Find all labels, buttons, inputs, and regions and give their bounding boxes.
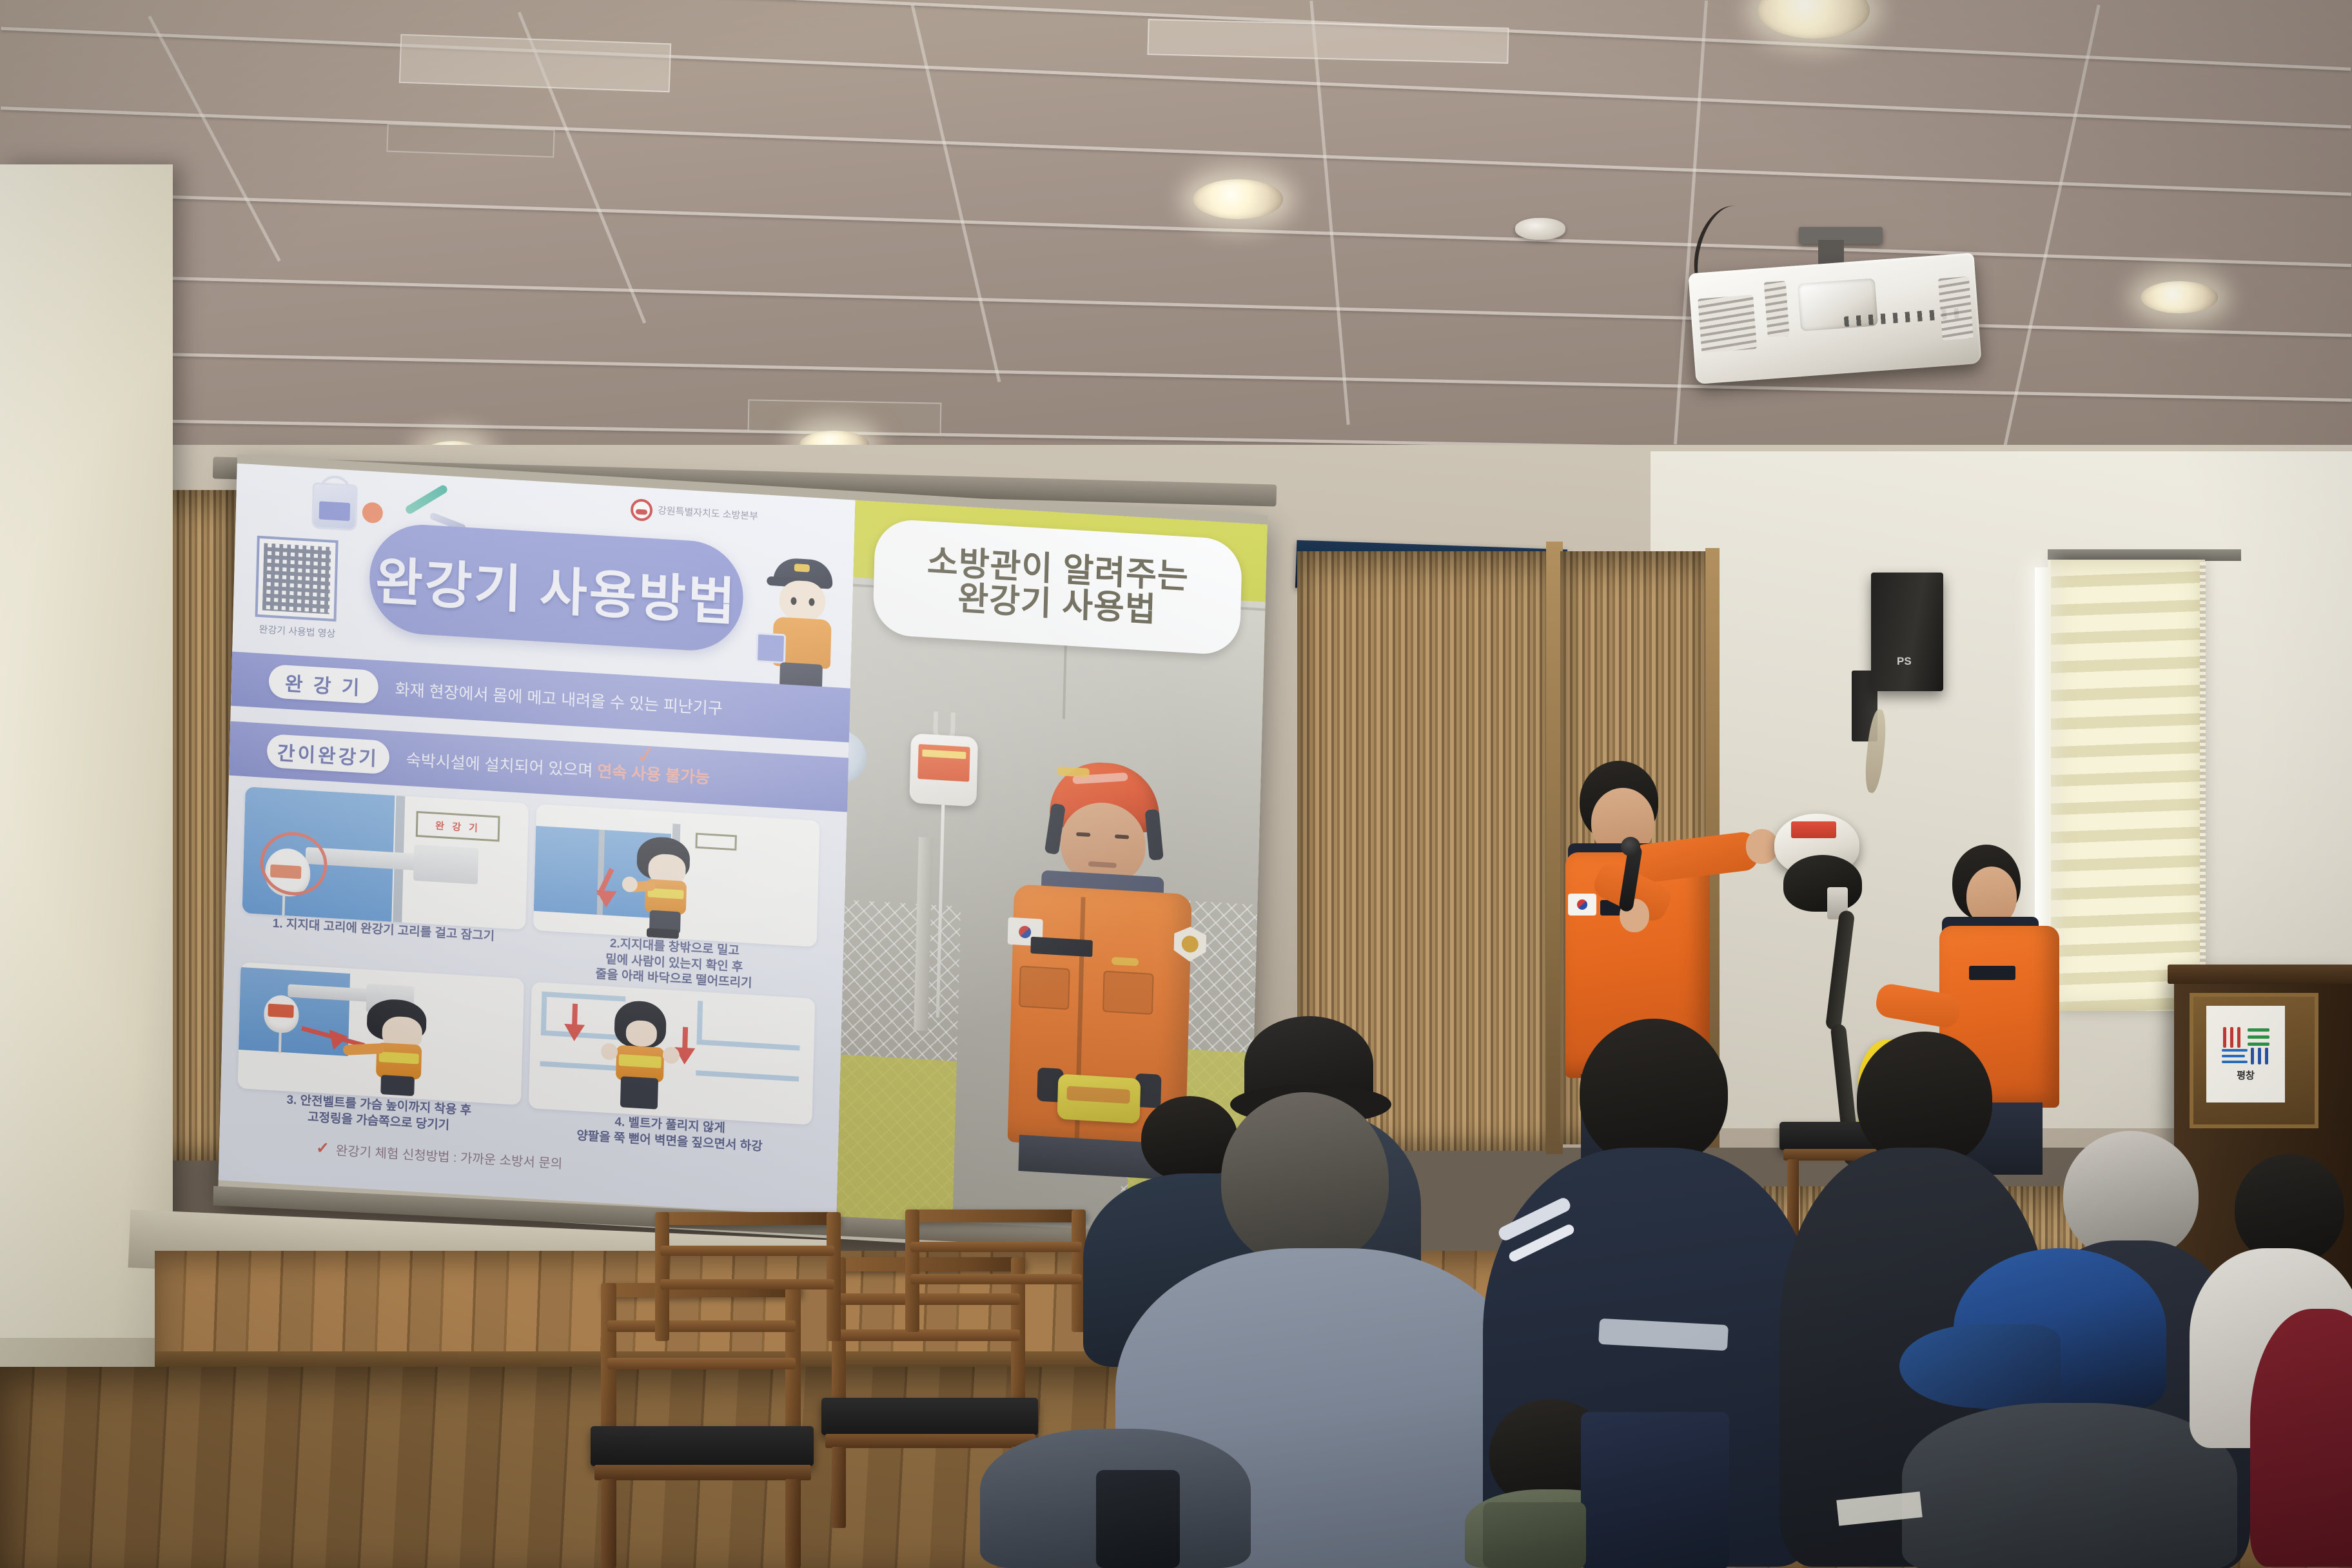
info-desc: 화재 현장에서 몸에 메고 내려올 수 있는 피난기구 (395, 677, 723, 720)
info-chip-label: 간이완강기 (266, 734, 389, 774)
qr-caption: 완강기 사용법 영상 (246, 622, 349, 641)
step-1-sign: 완 강 기 (416, 811, 500, 842)
lecture-hall-photo: HAPPY700 PS 강원특별자치도 소방본부 (0, 0, 2352, 1568)
bucket-icon (311, 482, 358, 531)
reel-dark-housing (1783, 855, 1862, 912)
chair-back-mid[interactable] (896, 1210, 1102, 1390)
step-1-illustration: 완 강 기 (242, 787, 529, 930)
step-4: 4. 벨트가 풀리지 않게 양팔을 쭉 뻗어 벽면을 짚으면서 하강 (527, 982, 815, 1162)
wall-speaker: PS (1871, 573, 1943, 691)
head (1857, 1032, 1992, 1167)
smoke-detector-icon (1515, 218, 1565, 240)
agency-logo: 강원특별자치도 소방본부 (631, 498, 759, 528)
podium-front-panel: 평창 (2190, 993, 2318, 1128)
blinds-pull-chain[interactable] (2200, 562, 2206, 1001)
step-4-illustration (529, 982, 816, 1125)
reel-label (1791, 821, 1836, 838)
slide-footer: ✓ 완강기 체험 신청방법 : 가까운 소방서 문의 (316, 1138, 563, 1172)
audience-person-maroon-top (2250, 1309, 2352, 1567)
head (1580, 1019, 1728, 1167)
step-2-illustration (533, 804, 820, 947)
device-label (917, 744, 970, 782)
korean-flag-patch (1568, 894, 1596, 916)
tote-bag (1483, 1502, 1586, 1568)
microphone-head (1621, 837, 1640, 856)
handbag (1096, 1470, 1180, 1568)
presenter-raised-hand (1746, 829, 1778, 864)
head (2235, 1154, 2344, 1264)
info-desc: 숙박시설에 설치되어 있으며 연속 사용 불가능 (406, 747, 710, 789)
descender-device-photo (909, 733, 978, 807)
orange-dot-icon (362, 502, 383, 524)
fire-agency-mark-icon (631, 498, 653, 522)
slide-left-column: 강원특별자치도 소방본부 완강기 사용법 영상 완강기 사용방법 (219, 464, 856, 1217)
head (1221, 1092, 1389, 1266)
slide-title: 완강기 사용방법 (375, 540, 738, 636)
ceiling-downlight (1758, 0, 1870, 39)
firefighter-mascot-icon (760, 556, 845, 700)
ceiling-downlight (2141, 281, 2218, 313)
pyeongchang-logo: 평창 (2206, 1006, 2285, 1102)
backpack (1581, 1412, 1729, 1568)
step-1: 완 강 기 1. 지지대 고리에 완강기 고리를 걸고 잠그기 (241, 787, 529, 967)
speaker-brand-label: PS (1897, 655, 1912, 668)
slide-steps: 완 강 기 1. 지지대 고리에 완강기 고리를 걸고 잠그기 (237, 787, 829, 1157)
chair-back-left[interactable] (645, 1212, 857, 1406)
pen-icon (404, 484, 449, 515)
step-3-illustration (237, 962, 524, 1105)
agency-name-label: 강원특별자치도 소방본부 (658, 505, 758, 522)
check-mark-icon: ✓ (634, 740, 658, 770)
photo-headline-pill: 소방관이 알려주는 완강기 사용법 (872, 518, 1242, 656)
cap-brim (1899, 1324, 2061, 1408)
pyeongchang-label: 평창 (2237, 1068, 2255, 1082)
ceiling-downlight (1193, 179, 1283, 219)
projector (1688, 253, 1981, 384)
left-pillar (0, 164, 173, 1568)
slide-title-pill: 완강기 사용방법 (368, 522, 745, 653)
qr-code[interactable] (255, 536, 338, 622)
assistant-name-tag (1969, 966, 2015, 980)
info-chip-label: 완 강 기 (268, 664, 378, 704)
ceiling (0, 0, 2352, 490)
step-3: 3. 안전벨트를 가슴 높이까지 착용 후 고정링을 가슴쪽으로 당기기 (237, 962, 524, 1142)
step-2: 2.지지대를 창밖으로 밀고 밑에 사람이 있는지 확인 후 줄을 아래 바닥으… (532, 804, 819, 985)
footer-tick-icon: ✓ (316, 1138, 330, 1158)
pyeongchang-symbol-icon (2222, 1027, 2269, 1066)
